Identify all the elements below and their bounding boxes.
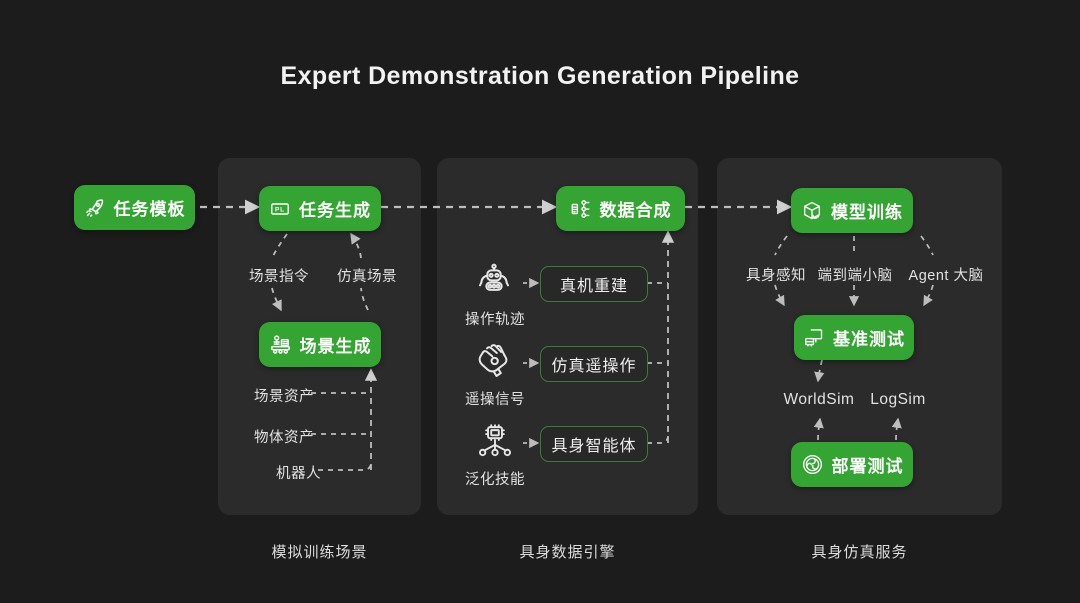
pill-label: 基准测试 — [833, 325, 905, 350]
page-title: Expert Demonstration Generation Pipeline — [0, 62, 1080, 91]
ai-chip-icon — [476, 423, 514, 461]
caption-panel-2: 具身数据引擎 — [437, 541, 698, 562]
label-robot: 机器人 — [276, 462, 321, 483]
caption-panel-3: 具身仿真服务 — [717, 541, 1002, 562]
box-simulated-teleoperation[interactable]: 仿真遥操作 — [540, 346, 648, 382]
pill-benchmark-test[interactable]: 基准测试 — [794, 315, 914, 360]
label-scene-asset: 场景资产 — [254, 385, 314, 406]
label-simulation-scene: 仿真场景 — [337, 265, 397, 286]
label-worldsim: WorldSim — [784, 391, 855, 409]
label-logsim: LogSim — [870, 391, 926, 409]
pill-label: 场景生成 — [300, 332, 372, 357]
pill-task-template[interactable]: 任务模板 — [74, 185, 195, 230]
label-embodied-perception: 具身感知 — [746, 264, 806, 285]
pill-label: 任务生成 — [299, 196, 371, 221]
glove-icon — [475, 342, 515, 382]
pill-deployment-test[interactable]: 部署测试 — [791, 442, 913, 487]
pill-scene-generation[interactable]: 场景生成 — [259, 322, 381, 367]
pill-task-generation[interactable]: PL 任务生成 — [259, 186, 381, 231]
deploy-circle-icon — [801, 453, 824, 476]
label-end-to-end-cerebellum: 端到端小脑 — [818, 264, 893, 285]
box-embodied-agent[interactable]: 具身智能体 — [540, 426, 648, 462]
pill-label: 模型训练 — [831, 198, 903, 223]
box-real-machine-reconstruction[interactable]: 真机重建 — [540, 266, 648, 302]
pill-label: 数据合成 — [600, 196, 672, 221]
data-merge-icon — [570, 198, 592, 220]
label-operation-trajectory: 操作轨迹 — [465, 308, 525, 329]
svg-text:PL: PL — [275, 206, 285, 213]
label-object-asset: 物体资产 — [254, 426, 314, 447]
pill-model-training[interactable]: 模型训练 — [791, 188, 913, 233]
cube-refresh-icon — [801, 200, 823, 222]
label-teleop-signal: 遥操信号 — [465, 388, 525, 409]
label-agent-brain: Agent 大脑 — [909, 264, 984, 285]
pill-data-synthesis[interactable]: 数据合成 — [556, 186, 685, 231]
rocket-icon — [84, 197, 106, 219]
pill-label: 任务模板 — [114, 195, 186, 220]
benchmark-screen-icon — [803, 327, 825, 349]
factory-worker-icon — [269, 333, 292, 356]
diagram-canvas: Expert Demonstration Generation Pipeline — [0, 0, 1080, 603]
pill-label: 部署测试 — [832, 452, 904, 477]
label-scene-instruction: 场景指令 — [249, 265, 309, 286]
label-generalization-skill: 泛化技能 — [465, 468, 525, 489]
pl-frame-icon: PL — [269, 198, 291, 220]
caption-panel-1: 模拟训练场景 — [218, 541, 421, 562]
robot-icon — [474, 262, 514, 302]
